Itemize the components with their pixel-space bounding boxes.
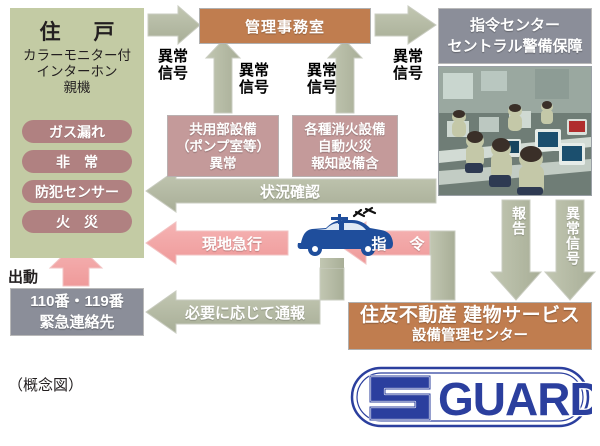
equipment-common-line-1: 共用部設備 [189, 121, 257, 138]
sumitomo-service-box: 住友不動産 建物サービス 設備管理センター [348, 302, 592, 350]
concept-diagram: 住 戸 カラーモニター付 インターホン 親機 ガス漏れ 非 常 防犯センサー 火… [0, 0, 600, 446]
command-center-box: 指令センター セントラル警備保障 [438, 8, 592, 64]
emergency-line-2: 緊急連絡先 [39, 312, 114, 333]
equipment-common-line-3: 異常 [210, 155, 237, 172]
label-rush-to-site: 現地急行 [176, 232, 288, 254]
label-line-1: 異常 [382, 48, 434, 65]
dwelling-subtitle-line-3: 親機 [10, 80, 144, 96]
equipment-fire-line-1: 各種消火設備 [305, 121, 386, 138]
dwelling-subtitle-line-2: インターホン [10, 64, 144, 80]
emergency-line-1: 110番・119番 [30, 291, 123, 312]
label-line-1: 異常 [228, 62, 280, 79]
label-order: 指 令 [366, 232, 430, 254]
dwelling-subtitle-line-1: カラーモニター付 [10, 48, 144, 64]
command-center-line-2: セントラル警備保障 [447, 36, 582, 57]
label-abnormal-signal-3: 異常 信号 [296, 62, 348, 96]
equipment-fire-line-3: 報知設備含 [311, 155, 379, 172]
connector-sumitomo-to-order [430, 231, 455, 300]
sguard-logo-art: GUARD [348, 358, 592, 438]
equipment-fire-line-2: 自動火災 [318, 138, 372, 155]
label-line-2: 信号 [382, 65, 434, 82]
label-abnormal-signal-2: 異常 信号 [228, 62, 280, 96]
label-abnormal-signal-1: 異常 信号 [145, 48, 201, 82]
label-abnormal-signal-right: 異常信号 [563, 206, 583, 292]
dispatch-label: 出動 [8, 266, 38, 287]
equipment-common-line-2: （ポンプ室等） [176, 138, 270, 155]
alarm-pill-security-sensor: 防犯センサー [22, 180, 132, 203]
label-line-2: 信号 [296, 79, 348, 96]
label-status-check: 状況確認 [200, 180, 380, 202]
sguard-wordmark: GUARD [438, 373, 592, 425]
label-abnormal-signal-4: 異常 信号 [382, 48, 434, 82]
emergency-contacts-box: 110番・119番 緊急連絡先 [10, 288, 144, 336]
command-center-line-1: 指令センター [470, 15, 560, 36]
diagram-caption: （概念図） [8, 374, 83, 395]
dwelling-title: 住 戸 [10, 16, 144, 46]
equipment-box-fire-systems: 各種消火設備 自動火災 報知設備含 [292, 115, 398, 177]
label-notify-if-needed: 必要に応じて通報 [170, 301, 320, 323]
equipment-box-common-area: 共用部設備 （ポンプ室等） 異常 [167, 115, 279, 177]
dwelling-subtitle: カラーモニター付 インターホン 親機 [10, 48, 144, 96]
management-office-box: 管理事務室 [199, 8, 371, 44]
photo-content [439, 67, 591, 195]
label-line-1: 異常 [145, 48, 201, 65]
alarm-pill-gas-leak: ガス漏れ [22, 120, 132, 143]
label-line-1: 異常 [296, 62, 348, 79]
arrow-dwelling-to-office [148, 6, 200, 44]
alarm-pill-emergency: 非 常 [22, 150, 132, 173]
alarm-pill-fire: 火 災 [22, 210, 132, 233]
label-line-2: 信号 [228, 79, 280, 96]
label-report: 報告 [509, 206, 529, 268]
sumitomo-line-1: 住友不動産 建物サービス [360, 306, 580, 326]
sumitomo-line-2: 設備管理センター [412, 326, 528, 346]
monitoring-room-photo [438, 66, 592, 196]
sguard-logo: GUARD [348, 358, 592, 438]
arrow-office-to-center [375, 6, 436, 44]
label-line-2: 信号 [145, 65, 201, 82]
